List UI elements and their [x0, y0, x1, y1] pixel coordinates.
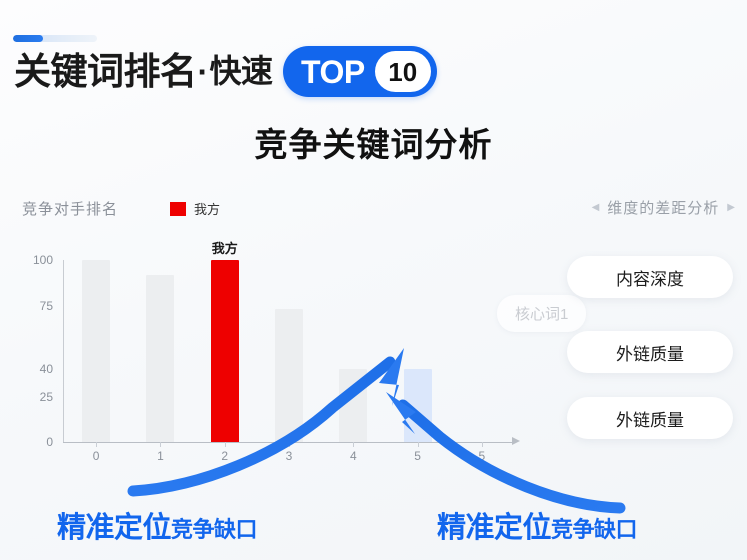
chart-bar: [404, 369, 432, 442]
progress-bar: [13, 35, 97, 42]
x-axis-tick-label: 3: [286, 449, 293, 463]
y-axis-tick-label: 0: [46, 435, 63, 449]
left-triangle-icon[interactable]: ◀: [592, 203, 600, 213]
headline-main: 关键词排名: [14, 53, 197, 90]
legend-label: 我方: [194, 199, 220, 218]
chart-legend: 我方: [170, 199, 220, 218]
chart-bar: [146, 275, 174, 442]
x-axis-tick-label: 5: [414, 449, 421, 463]
x-axis-tick-label: 1: [157, 449, 164, 463]
caption-left: 精准定位 竞争缺口: [57, 504, 257, 546]
x-axis-tick-mark: [418, 442, 419, 447]
core-keyword-chip[interactable]: 核心词1: [497, 295, 586, 332]
x-axis-tick-label: 4: [350, 449, 357, 463]
dimension-pill-content-depth[interactable]: 内容深度: [567, 256, 733, 298]
caption-right-small: 竞争缺口: [551, 512, 637, 544]
caption-left-small: 竞争缺口: [171, 512, 257, 544]
top-rank-badge: TOP 10: [283, 46, 437, 97]
headline: 关键词排名 · 快速: [14, 45, 273, 97]
caption-left-big: 精准定位: [57, 504, 171, 546]
right-triangle-icon[interactable]: ▶: [727, 203, 735, 213]
x-axis-tick-label: 0: [93, 449, 100, 463]
chart-bar: [211, 260, 239, 442]
caption-right-big: 精准定位: [437, 504, 551, 546]
x-axis-tick-mark: [353, 442, 354, 447]
y-axis-tick-label: 75: [40, 299, 63, 313]
progress-bar-fill: [13, 35, 43, 42]
top-badge-number: 10: [375, 51, 431, 92]
x-axis-tick-mark: [96, 442, 97, 447]
x-axis-tick-mark: [160, 442, 161, 447]
dimension-pill-backlink-quality-2[interactable]: 外链质量: [567, 397, 733, 439]
competitor-ranking-chart: 1007540250 我方 0123455: [18, 252, 528, 477]
caption-right: 精准定位 竞争缺口: [437, 504, 637, 546]
x-axis-tick-mark: [289, 442, 290, 447]
y-axis-tick-label: 25: [40, 390, 63, 404]
chart-header: 竞争对手排名 我方: [22, 198, 220, 219]
top-badge-label: TOP: [301, 56, 375, 88]
chart-title: 竞争对手排名: [22, 198, 118, 219]
chart-bar: [275, 309, 303, 442]
headline-sub: 快速: [210, 55, 273, 87]
dimension-pill-backlink-quality-1[interactable]: 外链质量: [567, 331, 733, 373]
legend-swatch-icon: [170, 202, 186, 216]
page-title: 竞争关键词分析: [0, 118, 747, 166]
dimension-analysis-header: ◀ 维度的差距分析 ▶: [592, 197, 735, 218]
headline-separator-dot: ·: [197, 55, 210, 88]
chart-bar: [82, 260, 110, 442]
chart-bar-annotation: 我方: [212, 238, 238, 257]
y-axis-tick-label: 100: [33, 253, 63, 267]
chart-plot-area: 我方: [64, 260, 514, 442]
dimension-analysis-title: 维度的差距分析: [607, 197, 719, 218]
y-axis-tick-label: 40: [40, 362, 63, 376]
x-axis-tick-mark: [482, 442, 483, 447]
x-axis-tick-label: 2: [221, 449, 228, 463]
x-axis-tick-label: 5: [479, 449, 486, 463]
chart-bar: [339, 369, 367, 442]
x-axis-tick-mark: [225, 442, 226, 447]
